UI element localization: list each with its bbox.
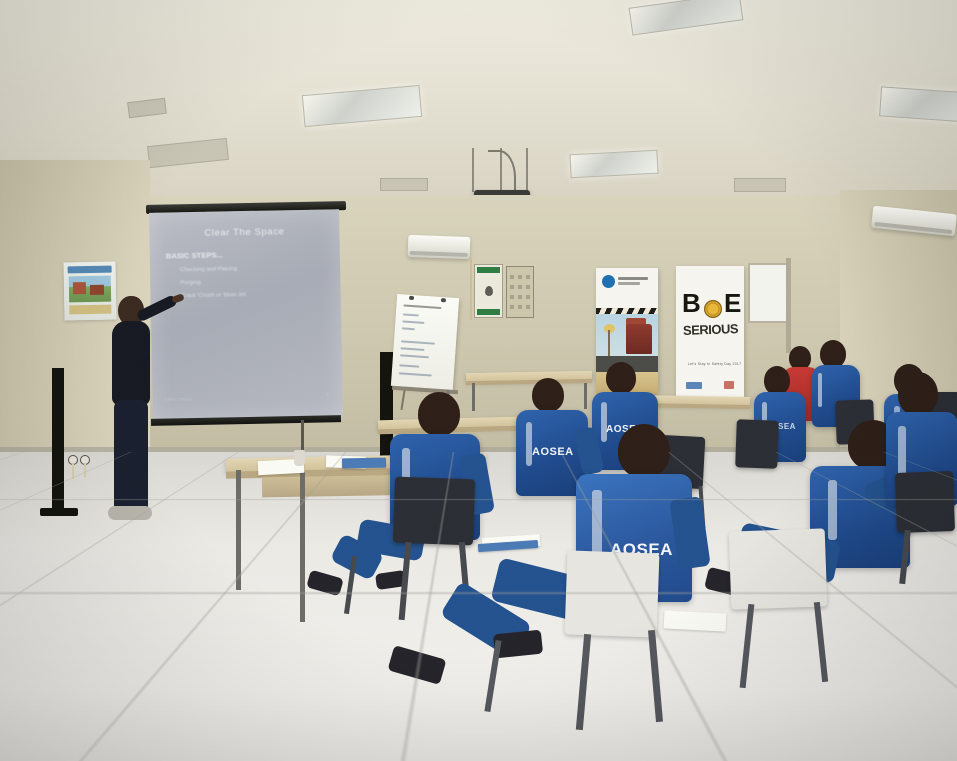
uniform-label: AOSEA [532,446,574,458]
floor-shadow [0,690,957,761]
presenter-shoes [108,506,152,520]
table-leg [472,383,475,411]
blue-folder [342,458,386,469]
presenter [100,288,184,528]
ceiling-light-icon [879,86,957,123]
trainee-head [532,378,564,412]
whiteboard-icon [748,263,790,323]
chair-back [393,477,475,546]
banner-sponsor-logo [724,381,734,389]
chair-front-center [565,550,660,637]
banner-tagline: Let's Stay In Safety Day 2017 [688,362,741,366]
slide-bullet-1: Checking and Placing [180,266,237,273]
table-leg [584,383,587,409]
desk-leg [300,472,305,622]
banner-letter-e: E [724,288,741,319]
desk-leg [236,470,241,590]
power-cable [72,463,74,479]
training-room-photo: Clear The Space BASIC STEPS... Checking … [0,0,957,761]
ceiling-vent [127,98,167,119]
gear-icon [704,300,722,318]
trainee-head [764,366,790,395]
ceiling-light-icon [302,85,422,127]
banner-word-serious: SERIOUS [683,321,739,338]
slide-bullet-main: BASIC STEPS... [166,250,223,260]
ceiling-vent [734,178,786,192]
speaker-icon [52,368,64,510]
trainee-head [418,392,460,436]
door-frame [786,258,791,353]
banner-sponsor-logo [686,382,702,389]
presenter-legs [114,400,148,510]
chair-front-right [729,528,828,609]
ceiling-vent [147,138,229,168]
trainee-head [898,372,938,416]
paper-sheet [664,610,727,631]
banner-logo-icon [602,275,615,288]
chair-back [735,419,779,468]
ceiling-light-icon [569,150,658,179]
ceiling-light-icon [629,0,744,36]
slide-page-number: 8 [326,391,328,396]
ceiling-vent [380,178,428,191]
air-conditioner-icon [408,235,471,259]
speaker-base [40,508,78,516]
trainee-head [820,340,846,368]
slide-bullet-3: Crack 'Crush or 'blow Jet [181,292,246,299]
slide-bullet-2: Purging [180,280,200,286]
roll-up-banner-be-serious: B E SERIOUS Let's Stay In Safety Day 201… [676,266,744,398]
cup [294,450,305,466]
trainee-head [618,424,670,478]
banner-letter-b: B [682,288,701,319]
chair-back [895,471,955,533]
trainee-head [606,362,636,394]
flipchart-icon [392,296,474,408]
slide-title: Clear The Space [149,225,339,240]
wall-chart [506,266,534,318]
power-cable [84,463,86,477]
presenter-hand [171,293,185,304]
notice-board-icon [474,264,503,318]
